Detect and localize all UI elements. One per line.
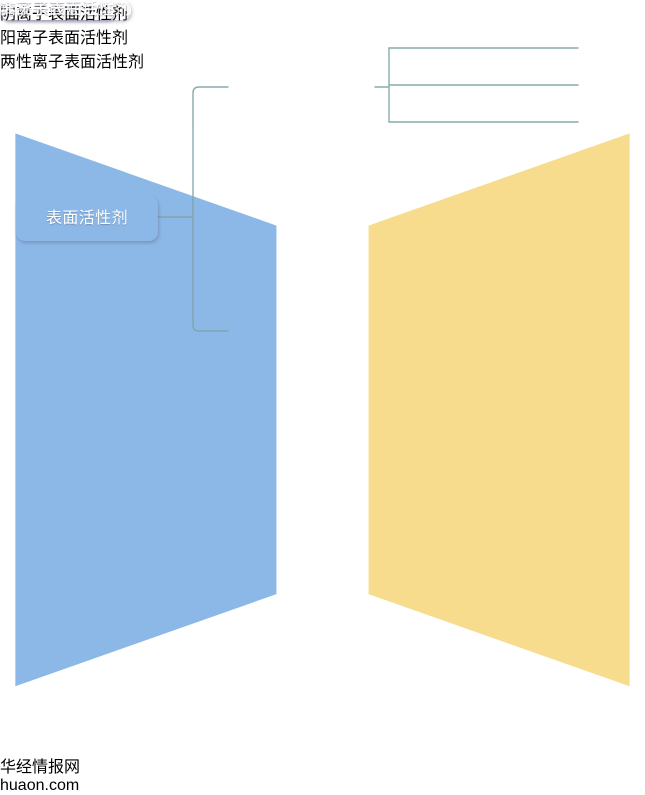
leaf-amphoteric-surfactant[interactable]: 两性离子表面活性剂 bbox=[0, 48, 645, 72]
node-root-label: 表面活性剂 bbox=[46, 209, 128, 229]
diagram-canvas: 表面活性剂 离子表面活性剂 非离子表面活性剂 阴离子表面活性剂 阳离子表面活性剂… bbox=[0, 0, 645, 413]
watermark-text: 华经情报网 huaon.com bbox=[0, 753, 645, 795]
leaf-cationic-surfactant[interactable]: 阳离子表面活性剂 bbox=[0, 24, 645, 48]
node-nonionic-surfactant[interactable]: 非离子表面活性剂 bbox=[0, 0, 131, 20]
huaon-logo-icon bbox=[0, 72, 645, 748]
node-root[interactable]: 表面活性剂 bbox=[16, 196, 158, 241]
node-nonionic-surfactant-label: 非离子表面活性剂 bbox=[0, 0, 131, 20]
watermark-brand-cn: 华经情报网 bbox=[0, 753, 645, 777]
watermark-brand-en: huaon.com bbox=[0, 777, 645, 795]
watermark-logo: 华经情报网 huaon.com bbox=[0, 72, 645, 795]
